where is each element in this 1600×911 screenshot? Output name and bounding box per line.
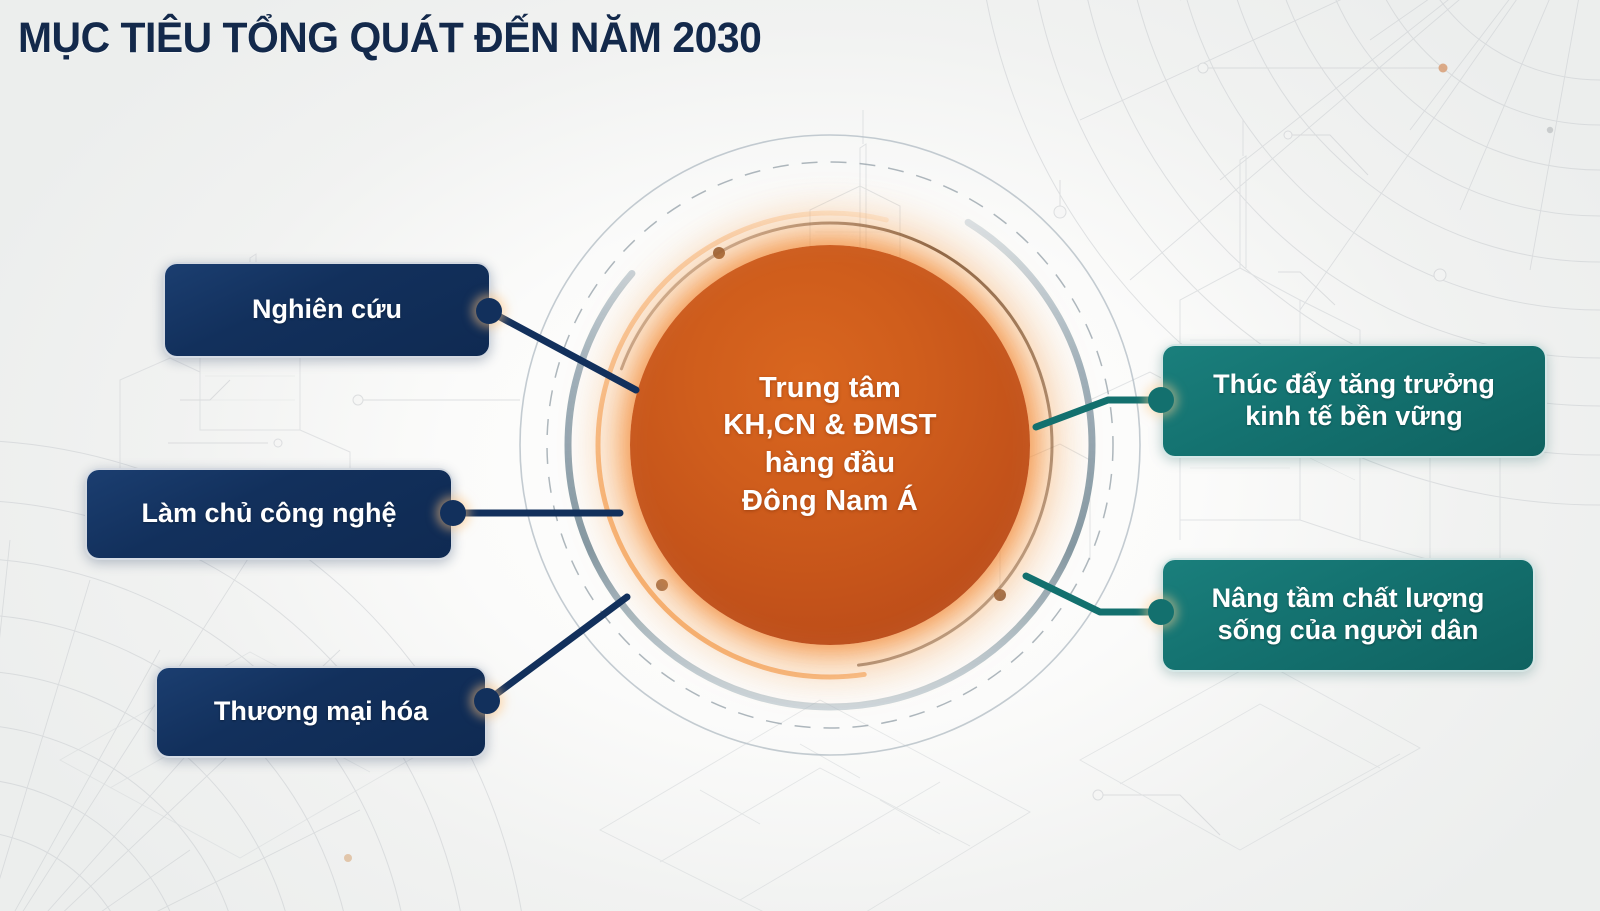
hub-line-1: Trung tâm — [759, 370, 901, 408]
page-title: MỤC TIÊU TỔNG QUÁT ĐẾN NĂM 2030 — [18, 14, 761, 63]
label-card-thuong-mai-hoa[interactable]: Thương mại hóa — [155, 666, 487, 758]
label-card-lam-chu-cong-nghe[interactable]: Làm chủ công nghệ — [85, 468, 453, 560]
connector-dot-tang-truong — [1148, 387, 1174, 413]
hub-line-4: Đông Nam Á — [742, 483, 918, 521]
central-hub: Trung tâm KH,CN & ĐMST hàng đầu Đông Nam… — [490, 95, 1170, 795]
label-card-nghien-cuu-text: Nghiên cứu — [165, 294, 489, 326]
connector-dot-lam-chu — [440, 500, 466, 526]
label-card-tang-truong-kinh-te[interactable]: Thúc đẩy tăng trưởng kinh tế bền vững — [1161, 344, 1547, 458]
label-card-nghien-cuu[interactable]: Nghiên cứu — [163, 262, 491, 358]
connector-dot-chat-luong — [1148, 599, 1174, 625]
hub-line-2: KH,CN & ĐMST — [723, 407, 936, 445]
label-card-tang-truong-line-1: Thúc đẩy tăng trưởng — [1213, 369, 1495, 399]
label-card-lam-chu-cong-nghe-text: Làm chủ công nghệ — [87, 498, 451, 530]
label-card-tang-truong-kinh-te-text: Thúc đẩy tăng trưởng kinh tế bền vững — [1163, 369, 1545, 433]
label-card-chat-luong-line-1: Nâng tầm chất lượng — [1212, 583, 1485, 613]
label-card-tang-truong-line-2: kinh tế bền vững — [1245, 401, 1463, 431]
label-card-thuong-mai-hoa-text: Thương mại hóa — [157, 696, 485, 728]
label-card-chat-luong-line-2: sống của người dân — [1218, 615, 1479, 645]
hub-label: Trung tâm KH,CN & ĐMST hàng đầu Đông Nam… — [630, 245, 1030, 645]
hub-line-3: hàng đầu — [765, 445, 896, 483]
infographic-canvas: MỤC TIÊU TỔNG QUÁT ĐẾN NĂM 2030 — [0, 0, 1600, 911]
label-card-chat-luong-song-text: Nâng tầm chất lượng sống của người dân — [1163, 583, 1533, 647]
connector-dot-nghien-cuu — [476, 298, 502, 324]
connector-dot-thuong-mai — [474, 688, 500, 714]
label-card-chat-luong-song[interactable]: Nâng tầm chất lượng sống của người dân — [1161, 558, 1535, 672]
